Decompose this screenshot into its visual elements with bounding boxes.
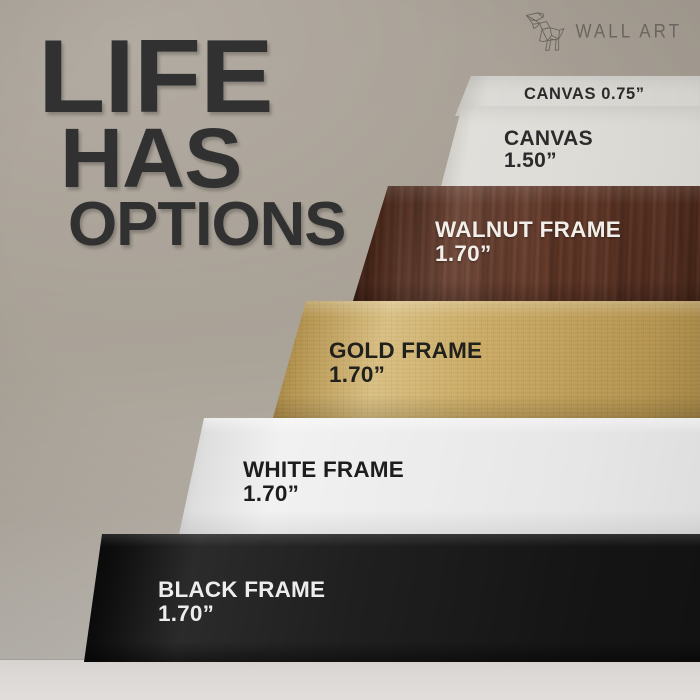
layer-white-frame[interactable]: WHITE FRAME 1.70” bbox=[178, 418, 700, 539]
black-line1: BLACK FRAME bbox=[158, 577, 325, 602]
origami-goat-icon bbox=[520, 12, 566, 52]
black-line2: 1.70” bbox=[158, 602, 325, 626]
layer-gold-frame[interactable]: GOLD FRAME 1.70” bbox=[272, 301, 700, 421]
canvas-075-line1: CANVAS 0.75” bbox=[524, 85, 645, 103]
gold-line2: 1.70” bbox=[329, 363, 482, 387]
walnut-line2: 1.70” bbox=[435, 242, 621, 266]
black-label: BLACK FRAME 1.70” bbox=[158, 578, 325, 626]
headline-line-1: LIFE bbox=[38, 36, 358, 119]
canvas-150-line2: 1.50” bbox=[504, 150, 593, 172]
layer-black-frame[interactable]: BLACK FRAME 1.70” bbox=[84, 534, 700, 662]
canvas-075-label: CANVAS 0.75” bbox=[524, 86, 645, 103]
layer-canvas-150[interactable]: CANVAS 1.50” bbox=[440, 106, 700, 190]
headline-line-2: HAS bbox=[60, 125, 351, 192]
white-line2: 1.70” bbox=[243, 482, 404, 506]
brand-name: WALL ART bbox=[575, 21, 682, 43]
headline-line-3: OPTIONS bbox=[68, 200, 345, 250]
layer-walnut-frame[interactable]: WALNUT FRAME 1.70” bbox=[352, 186, 700, 304]
canvas-150-line1: CANVAS bbox=[504, 127, 593, 150]
walnut-line1: WALNUT FRAME bbox=[435, 217, 621, 242]
gold-line1: GOLD FRAME bbox=[329, 338, 482, 363]
product-options-poster: CANVAS 0.75” CANVAS 1.50” WALNUT FRAME 1… bbox=[0, 0, 700, 700]
white-label: WHITE FRAME 1.70” bbox=[243, 458, 404, 506]
gold-label: GOLD FRAME 1.70” bbox=[329, 339, 482, 387]
walnut-label: WALNUT FRAME 1.70” bbox=[435, 218, 621, 266]
headline-block: LIFE HAS OPTIONS bbox=[38, 36, 340, 250]
brand-logo[interactable]: WALL ART bbox=[520, 12, 682, 52]
white-line1: WHITE FRAME bbox=[243, 457, 404, 482]
canvas-150-label: CANVAS 1.50” bbox=[504, 128, 593, 173]
